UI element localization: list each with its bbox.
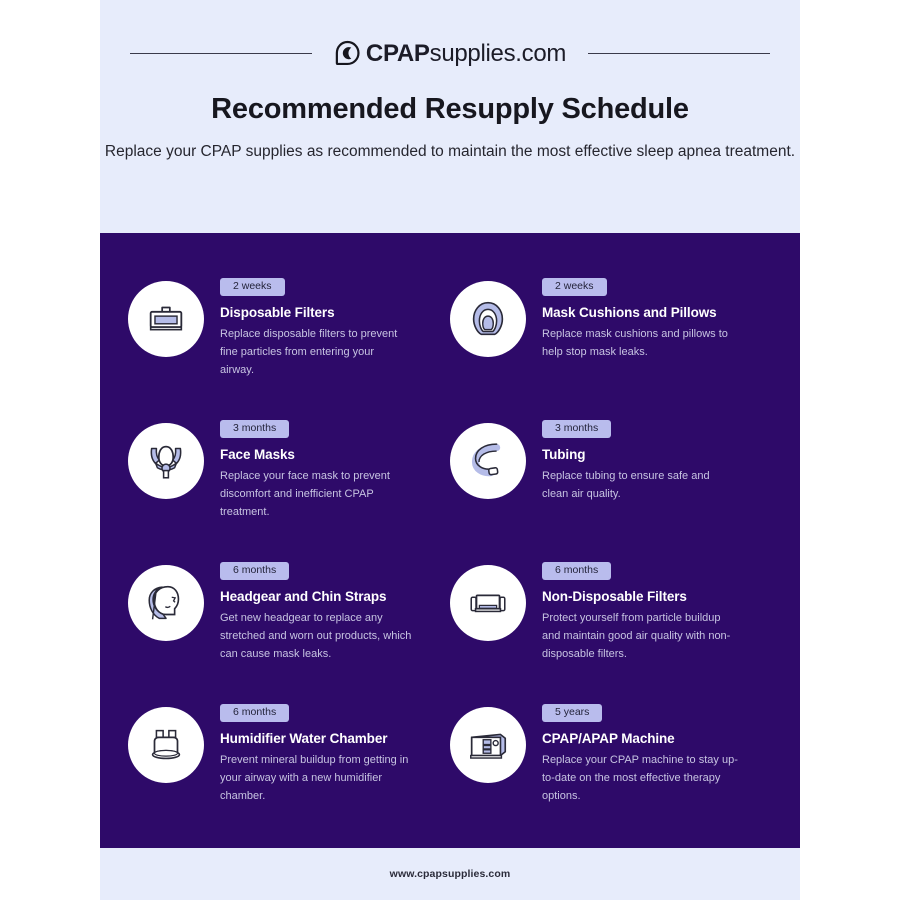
schedule-item-headgear: 6 months Headgear and Chin Straps Get ne… xyxy=(128,559,450,701)
cpap-machine-icon xyxy=(465,722,511,768)
infographic-sheet: CPAPsupplies.com Recommended Resupply Sc… xyxy=(100,0,800,900)
icon-badge xyxy=(128,281,204,357)
schedule-item-tubing: 3 months Tubing Replace tubing to ensure… xyxy=(450,417,772,559)
status-badge: 2 weeks xyxy=(542,278,607,296)
item-title: Mask Cushions and Pillows xyxy=(542,305,772,320)
status-badge: 6 months xyxy=(542,562,611,580)
item-body: 6 months Non-Disposable Filters Protect … xyxy=(542,559,772,664)
brand-logo-row: CPAPsupplies.com xyxy=(100,40,800,67)
mask-cushion-icon xyxy=(465,296,511,342)
page-title: Recommended Resupply Schedule xyxy=(100,93,800,126)
header: CPAPsupplies.com Recommended Resupply Sc… xyxy=(100,0,800,233)
status-badge: 5 years xyxy=(542,704,602,722)
schedule-item-humidifier-chamber: 6 months Humidifier Water Chamber Preven… xyxy=(128,701,450,843)
schedule-item-face-masks: 3 months Face Masks Replace your face ma… xyxy=(128,417,450,559)
footer: www.cpapsupplies.com xyxy=(100,848,800,900)
icon-badge xyxy=(128,707,204,783)
icon-badge xyxy=(450,707,526,783)
item-body: 6 months Headgear and Chin Straps Get ne… xyxy=(220,559,450,664)
disposable-filter-icon xyxy=(143,296,189,342)
item-body: 6 months Humidifier Water Chamber Preven… xyxy=(220,701,450,806)
icon-badge xyxy=(450,423,526,499)
brand-name: CPAPsupplies.com xyxy=(366,42,566,66)
icon-badge xyxy=(128,565,204,641)
divider-left xyxy=(130,53,312,54)
non-disposable-filter-icon xyxy=(465,580,511,626)
schedule-item-non-disposable-filters: 6 months Non-Disposable Filters Protect … xyxy=(450,559,772,701)
schedule-item-cpap-machine: 5 years CPAP/APAP Machine Replace your C… xyxy=(450,701,772,843)
headgear-icon xyxy=(143,580,189,626)
item-description: Replace your face mask to prevent discom… xyxy=(220,467,408,522)
face-mask-icon xyxy=(143,438,189,484)
item-title: Non-Disposable Filters xyxy=(542,589,772,604)
item-description: Prevent mineral buildup from getting in … xyxy=(220,751,416,806)
status-badge: 3 months xyxy=(220,420,289,438)
brand-name-bold: CPAP xyxy=(366,40,430,67)
item-description: Replace tubing to ensure safe and clean … xyxy=(542,467,730,504)
footer-url[interactable]: www.cpapsupplies.com xyxy=(390,868,511,880)
item-description: Replace your CPAP machine to stay up-to-… xyxy=(542,751,738,806)
item-description: Replace disposable filters to prevent fi… xyxy=(220,325,408,380)
item-title: CPAP/APAP Machine xyxy=(542,731,772,746)
item-title: Humidifier Water Chamber xyxy=(220,731,450,746)
icon-badge xyxy=(450,565,526,641)
humidifier-chamber-icon xyxy=(143,722,189,768)
schedule-grid: 2 weeks Disposable Filters Replace dispo… xyxy=(128,275,772,843)
status-badge: 6 months xyxy=(220,562,289,580)
page-subtitle: Replace your CPAP supplies as recommende… xyxy=(100,141,800,163)
icon-badge xyxy=(128,423,204,499)
schedule-item-disposable-filters: 2 weeks Disposable Filters Replace dispo… xyxy=(128,275,450,417)
icon-badge xyxy=(450,281,526,357)
schedule-panel: 2 weeks Disposable Filters Replace dispo… xyxy=(100,233,800,848)
schedule-item-mask-cushions: 2 weeks Mask Cushions and Pillows Replac… xyxy=(450,275,772,417)
item-body: 2 weeks Mask Cushions and Pillows Replac… xyxy=(542,275,772,361)
item-description: Replace mask cushions and pillows to hel… xyxy=(542,325,738,362)
item-body: 5 years CPAP/APAP Machine Replace your C… xyxy=(542,701,772,806)
item-body: 3 months Face Masks Replace your face ma… xyxy=(220,417,450,522)
brand-name-light: supplies.com xyxy=(430,40,566,67)
item-title: Disposable Filters xyxy=(220,305,450,320)
status-badge: 3 months xyxy=(542,420,611,438)
status-badge: 6 months xyxy=(220,704,289,722)
divider-right xyxy=(588,53,770,54)
moon-dome-icon xyxy=(334,40,361,67)
item-body: 3 months Tubing Replace tubing to ensure… xyxy=(542,417,772,503)
status-badge: 2 weeks xyxy=(220,278,285,296)
item-description: Protect yourself from particle buildup a… xyxy=(542,609,738,664)
item-body: 2 weeks Disposable Filters Replace dispo… xyxy=(220,275,450,380)
item-description: Get new headgear to replace any stretche… xyxy=(220,609,416,664)
item-title: Face Masks xyxy=(220,447,450,462)
item-title: Tubing xyxy=(542,447,772,462)
tubing-icon xyxy=(465,438,511,484)
item-title: Headgear and Chin Straps xyxy=(220,589,450,604)
